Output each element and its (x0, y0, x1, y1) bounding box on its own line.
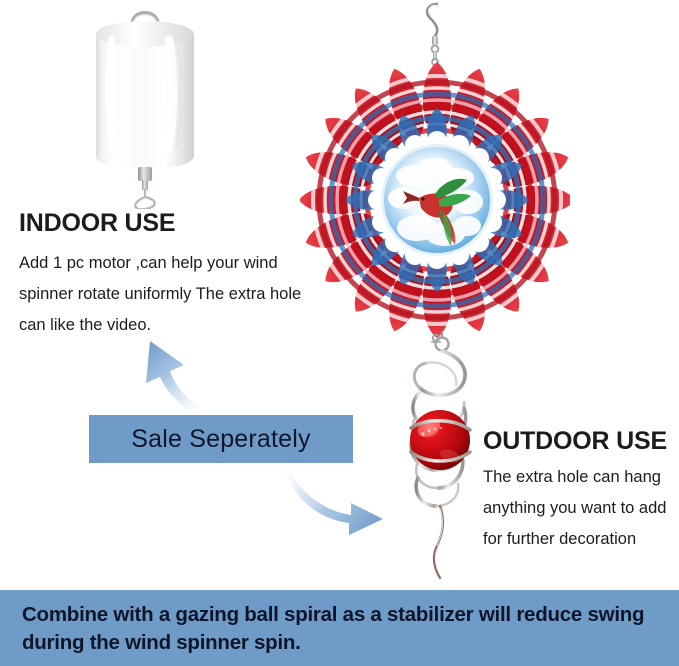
bottom-caption-text: Combine with a gazing ball spiral as a s… (22, 601, 662, 657)
arrow-down-shape (285, 461, 383, 535)
motor-shaft-pin (142, 180, 148, 190)
motor-wire-hook-icon (135, 190, 155, 209)
sale-separately-label: Sale Seperately (131, 425, 311, 454)
outdoor-use-heading: OUTDOOR USE (483, 429, 667, 454)
wind-spinner-motor-image (70, 4, 220, 209)
bottom-caption-bar: Combine with a gazing ball spiral as a s… (0, 590, 679, 666)
sale-separately-banner: Sale Seperately (89, 415, 353, 463)
motor-shaft (138, 167, 152, 181)
infographic-canvas: INDOOR USE Add 1 pc motor ,can help your… (0, 0, 679, 666)
motor-gloss-left (109, 38, 113, 150)
spinner-petal-rosette (300, 62, 570, 338)
indoor-use-description: Add 1 pc motor ,can help your wind spinn… (19, 248, 309, 341)
indoor-use-heading: INDOOR USE (19, 211, 175, 236)
spinner-center-sky-disc (384, 147, 490, 253)
hummingbird-wind-spinner-image (300, 0, 570, 350)
curved-arrow-up-icon (112, 327, 212, 422)
arrow-up-shape (146, 341, 208, 419)
spinner-s-hook-icon (427, 4, 438, 65)
motor-gloss-right (168, 40, 173, 150)
curved-arrow-down-right-icon (283, 455, 388, 540)
outdoor-use-description: The extra hole can hang anything you wan… (483, 462, 668, 555)
spiral-top-ring-icon (436, 332, 449, 351)
